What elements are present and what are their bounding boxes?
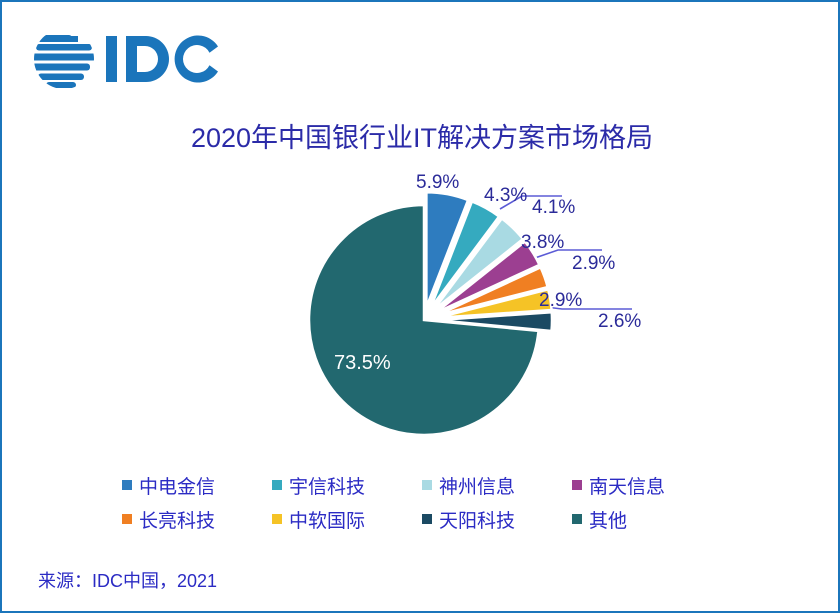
idc-wordmark	[106, 36, 218, 83]
slice-label-5: 2.9%	[539, 290, 582, 312]
legend-item-yuxinkeji[interactable]: 宇信科技	[272, 472, 422, 499]
legend-item-changliangkeji[interactable]: 长亮科技	[122, 506, 272, 533]
legend-label: 宇信科技	[289, 472, 365, 499]
legend-label: 中软国际	[289, 506, 365, 533]
legend-label: 南天信息	[589, 472, 665, 499]
pie-chart: 5.9% 4.3% 4.1% 3.8% 2.9% 2.9% 2.6% 73.5%	[2, 162, 840, 462]
legend-swatch-icon	[572, 514, 582, 524]
legend-swatch-icon	[122, 514, 132, 524]
legend-item-tianyangkeji[interactable]: 天阳科技	[422, 506, 572, 533]
globe-icon	[32, 35, 96, 88]
legend-swatch-icon	[422, 480, 432, 490]
pie-slices	[309, 192, 552, 435]
page-title: 2020年中国银行业IT解决方案市场格局	[2, 116, 840, 155]
slice-label-7: 73.5%	[334, 352, 391, 375]
legend-row-2: 长亮科技 中软国际 天阳科技 其他	[122, 502, 722, 536]
legend-item-zhongdianjinxin[interactable]: 中电金信	[122, 472, 272, 499]
legend-swatch-icon	[572, 480, 582, 490]
chart-canvas: 2020年中国银行业IT解决方案市场格局 5.9% 4.3% 4.1% 3.8%…	[0, 0, 840, 613]
legend-label: 神州信息	[439, 472, 515, 499]
legend-label: 天阳科技	[439, 506, 515, 533]
legend-item-shenzhouxinxi[interactable]: 神州信息	[422, 472, 572, 499]
legend-label: 长亮科技	[139, 506, 215, 533]
legend-row-1: 中电金信 宇信科技 神州信息 南天信息	[122, 468, 722, 502]
legend-item-nantianxinxi[interactable]: 南天信息	[572, 472, 722, 499]
legend-swatch-icon	[272, 480, 282, 490]
legend: 中电金信 宇信科技 神州信息 南天信息 长亮科技 中软国际	[122, 468, 722, 536]
slice-label-2: 4.1%	[532, 197, 575, 219]
legend-item-qita[interactable]: 其他	[572, 506, 722, 533]
legend-item-zhongruanguoji[interactable]: 中软国际	[272, 506, 422, 533]
legend-swatch-icon	[272, 514, 282, 524]
idc-logo	[32, 26, 222, 92]
source-note: 来源：IDC中国，2021	[38, 567, 217, 593]
slice-label-4: 2.9%	[572, 253, 615, 275]
legend-swatch-icon	[122, 480, 132, 490]
slice-label-6: 2.6%	[598, 311, 641, 333]
legend-label: 中电金信	[139, 472, 215, 499]
legend-label: 其他	[589, 506, 627, 533]
slice-label-0: 5.9%	[416, 172, 459, 194]
legend-swatch-icon	[422, 514, 432, 524]
slice-label-1: 4.3%	[484, 185, 527, 207]
slice-label-3: 3.8%	[521, 232, 564, 254]
